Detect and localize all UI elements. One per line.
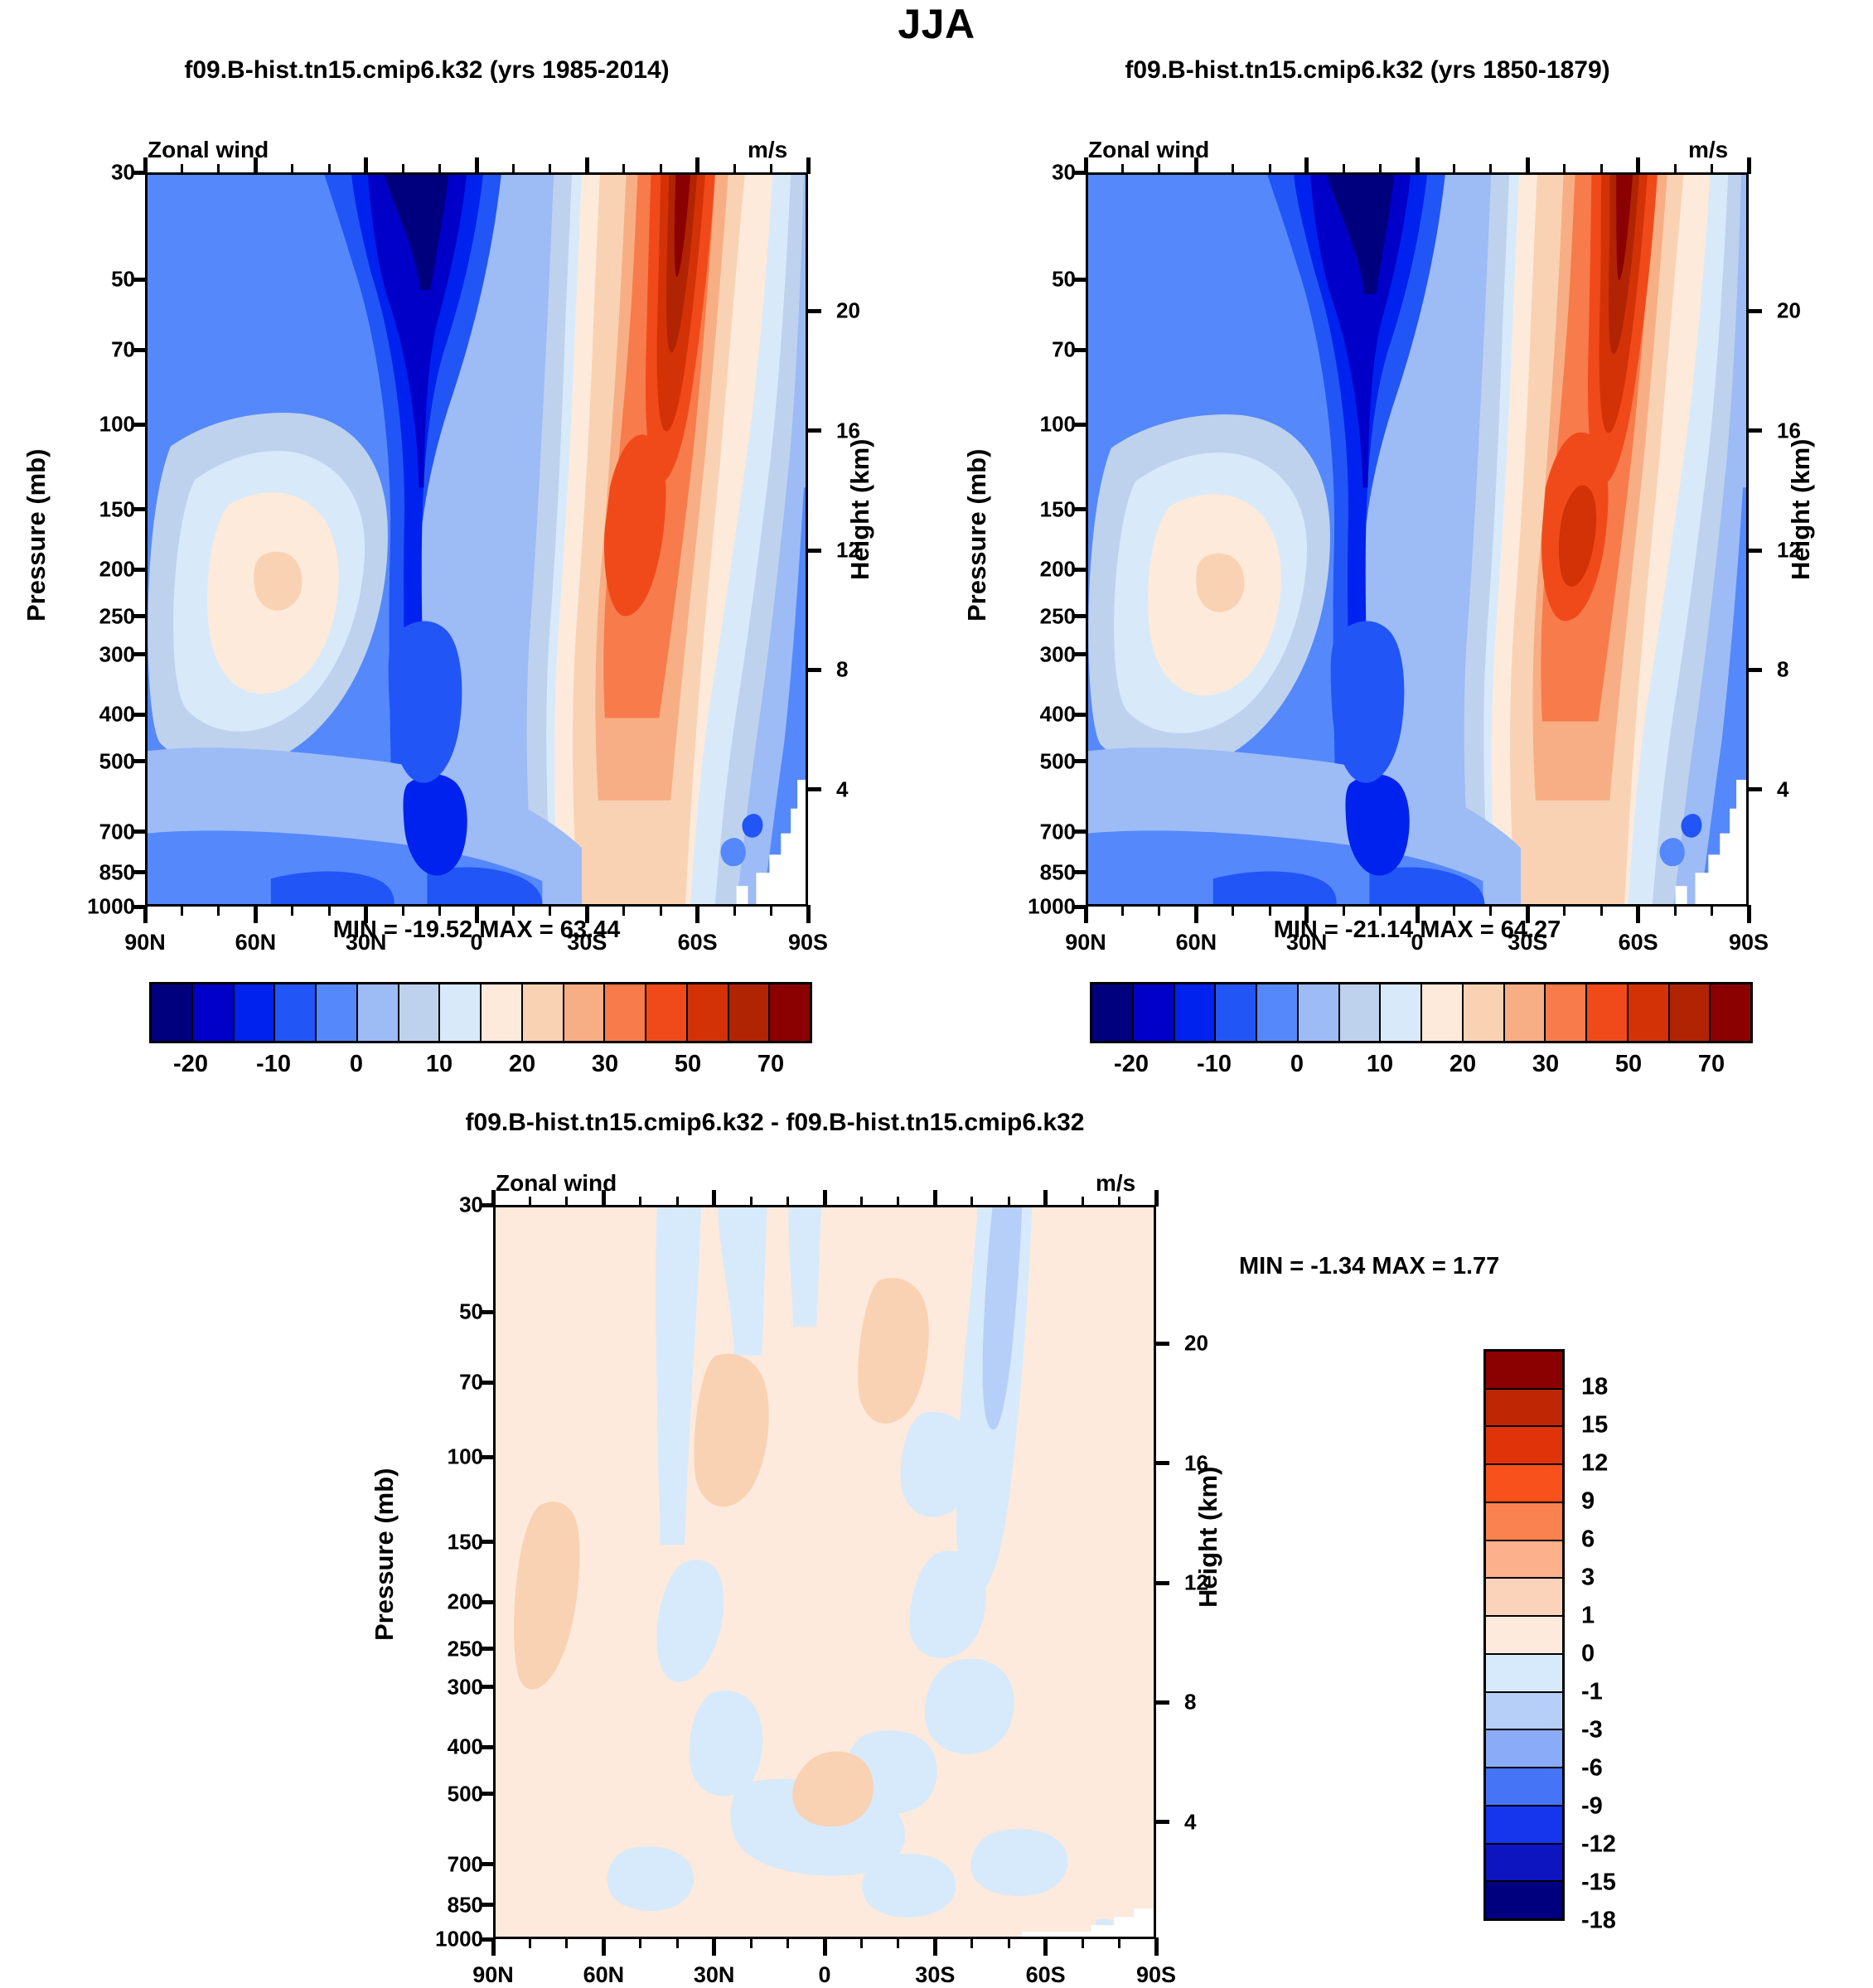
latitude-major-tick-top bbox=[1154, 1190, 1159, 1207]
pressure-tick-mark bbox=[1074, 423, 1087, 427]
latitude-minor-tick-top bbox=[565, 1197, 568, 1207]
colorbar-swatch bbox=[358, 984, 399, 1041]
latitude-tick-label: 60N bbox=[1176, 930, 1217, 955]
latitude-minor-tick bbox=[1118, 1938, 1120, 1948]
contour-field-top-left bbox=[148, 175, 806, 904]
colorbar-tick-label: 0 bbox=[350, 1051, 363, 1078]
colorbar-swatch bbox=[1464, 984, 1505, 1041]
latitude-major-tick-top bbox=[364, 157, 368, 174]
latitude-major-tick bbox=[1304, 905, 1309, 923]
latitude-major-tick bbox=[823, 1937, 827, 1956]
latitude-minor-tick bbox=[1269, 906, 1271, 916]
pressure-tick-mark bbox=[133, 759, 147, 763]
height-tick-mark bbox=[1154, 1581, 1169, 1585]
colorbar-swatch bbox=[1486, 1579, 1562, 1617]
pressure-tick-mark bbox=[482, 1862, 495, 1866]
latitude-major-tick-top bbox=[1194, 157, 1198, 174]
pressure-tick-label: 400 bbox=[56, 702, 135, 728]
latitude-minor-tick-top bbox=[897, 1197, 899, 1207]
latitude-major-tick bbox=[1747, 905, 1751, 923]
latitude-minor-tick-top bbox=[1343, 164, 1345, 174]
panel-bottom-diff-plot-area bbox=[493, 1205, 1156, 1939]
latitude-major-tick bbox=[585, 905, 589, 923]
height-tick-label: 16 bbox=[1184, 1450, 1208, 1476]
latitude-minor-tick-top bbox=[1379, 164, 1382, 174]
pressure-tick-mark bbox=[1074, 870, 1087, 874]
latitude-tick-label: 60S bbox=[1026, 1962, 1066, 1988]
latitude-major-tick-top bbox=[602, 1190, 606, 1207]
colorbar-tick-label: -9 bbox=[1581, 1793, 1603, 1821]
latitude-minor-tick bbox=[660, 906, 662, 916]
latitude-minor-tick-top bbox=[402, 164, 404, 174]
colorbar-tick-label: 0 bbox=[1290, 1051, 1304, 1078]
pressure-tick-label: 50 bbox=[996, 267, 1076, 293]
colorbar-tick-label: 20 bbox=[509, 1051, 535, 1078]
pressure-tick-mark bbox=[1074, 713, 1087, 717]
colorbar-swatch bbox=[1216, 984, 1257, 1041]
colorbar-tick-label: -15 bbox=[1581, 1869, 1616, 1897]
panel-top-right: f09.B-hist.tn15.cmip6.k32 (yrs 1850-1879… bbox=[941, 50, 1794, 953]
latitude-minor-tick-top bbox=[733, 164, 736, 174]
colorbar-tick-label: -10 bbox=[1197, 1051, 1232, 1078]
pressure-tick-mark bbox=[482, 1647, 495, 1651]
height-tick-mark bbox=[1154, 1820, 1169, 1824]
figure-super-title: JJA bbox=[0, 0, 1873, 48]
latitude-major-tick bbox=[695, 905, 699, 923]
panel-top-right-title: f09.B-hist.tn15.cmip6.k32 (yrs 1850-1879… bbox=[941, 56, 1794, 85]
pressure-tick-label: 50 bbox=[56, 267, 135, 293]
latitude-major-tick bbox=[1636, 905, 1640, 923]
pressure-tick-label: 700 bbox=[404, 1851, 483, 1877]
latitude-minor-tick bbox=[1158, 906, 1160, 916]
colorbar-swatch bbox=[1486, 1730, 1562, 1768]
latitude-major-tick bbox=[475, 905, 479, 923]
latitude-minor-tick bbox=[639, 1938, 641, 1948]
latitude-minor-tick-top bbox=[1118, 1197, 1120, 1207]
latitude-tick-label: 0 bbox=[470, 930, 482, 955]
colorbar-swatch bbox=[1486, 1845, 1562, 1883]
pressure-tick-mark bbox=[482, 1903, 495, 1907]
colorbar-tick-label: 50 bbox=[675, 1051, 701, 1078]
colorbar-tick-label: -20 bbox=[173, 1051, 208, 1078]
colorbar-swatch bbox=[1340, 984, 1382, 1041]
latitude-minor-tick-top bbox=[770, 164, 772, 174]
colorbar-top-right-labels: -20-1001020305070 bbox=[1090, 1051, 1753, 1084]
latitude-tick-label: 60N bbox=[583, 1962, 625, 1988]
pressure-tick-label: 500 bbox=[404, 1781, 483, 1807]
colorbar-tick-label: 10 bbox=[1367, 1051, 1393, 1078]
latitude-major-tick-top bbox=[933, 1190, 937, 1207]
latitude-minor-tick bbox=[750, 1938, 753, 1948]
pressure-tick-label: 70 bbox=[404, 1370, 483, 1395]
colorbar-tick-label: 15 bbox=[1581, 1412, 1608, 1439]
latitude-minor-tick-top bbox=[1489, 164, 1492, 174]
colorbar-swatch bbox=[605, 984, 646, 1041]
panel-bottom-diff-header-variable: Zonal wind bbox=[496, 1170, 617, 1197]
pressure-tick-label: 300 bbox=[996, 641, 1076, 667]
pressure-tick-label: 250 bbox=[404, 1636, 483, 1662]
latitude-tick-label: 60S bbox=[678, 930, 718, 955]
pressure-tick-mark bbox=[482, 1792, 495, 1796]
latitude-major-tick-top bbox=[254, 157, 258, 174]
pressure-tick-label: 1000 bbox=[404, 1927, 483, 1952]
pressure-tick-mark bbox=[133, 713, 147, 717]
height-tick-mark bbox=[1747, 309, 1762, 313]
pressure-tick-mark bbox=[482, 1600, 495, 1604]
colorbar-tick-label: 10 bbox=[426, 1051, 453, 1078]
latitude-minor-tick-top bbox=[1269, 164, 1271, 174]
latitude-major-tick-top bbox=[695, 157, 699, 174]
pressure-tick-mark bbox=[133, 568, 147, 572]
colorbar-swatch bbox=[688, 984, 729, 1041]
pressure-tick-label: 70 bbox=[56, 337, 135, 363]
colorbar-swatch bbox=[235, 984, 276, 1041]
panel-bottom-diff-header-units: m/s bbox=[1096, 1170, 1135, 1197]
height-tick-label: 4 bbox=[1184, 1809, 1196, 1835]
latitude-tick-label: 0 bbox=[818, 1962, 830, 1988]
colorbar-tick-label: -18 bbox=[1581, 1908, 1616, 1935]
pressure-tick-label: 150 bbox=[56, 496, 135, 522]
colorbar-tick-label: -3 bbox=[1581, 1717, 1603, 1744]
height-tick-label: 12 bbox=[1777, 538, 1801, 564]
panel-top-left-header-variable: Zonal wind bbox=[148, 137, 269, 163]
latitude-minor-tick bbox=[217, 906, 220, 916]
latitude-minor-tick-top bbox=[181, 164, 183, 174]
pressure-tick-mark bbox=[1074, 830, 1087, 834]
latitude-major-tick-top bbox=[823, 1190, 827, 1207]
pressure-tick-label: 850 bbox=[404, 1892, 483, 1918]
colorbar-tick-label: 18 bbox=[1581, 1374, 1608, 1401]
latitude-minor-tick-top bbox=[676, 1197, 679, 1207]
latitude-major-tick bbox=[1084, 905, 1088, 923]
pressure-tick-label: 400 bbox=[996, 702, 1076, 728]
colorbar-swatch bbox=[1299, 984, 1340, 1041]
colorbar-top-left[interactable] bbox=[149, 982, 812, 1043]
colorbar-diff[interactable] bbox=[1483, 1349, 1565, 1921]
latitude-minor-tick bbox=[1711, 906, 1713, 916]
latitude-minor-tick-top bbox=[1232, 164, 1234, 174]
latitude-minor-tick bbox=[1379, 906, 1382, 916]
pressure-tick-mark bbox=[133, 348, 147, 352]
latitude-minor-tick-top bbox=[1674, 164, 1677, 174]
panel-top-left-plot-area bbox=[145, 172, 808, 907]
colorbar-swatch bbox=[482, 984, 523, 1041]
colorbar-tick-label: -12 bbox=[1581, 1831, 1616, 1859]
contour-field-top-right bbox=[1088, 175, 1746, 904]
latitude-minor-tick bbox=[1232, 906, 1234, 916]
colorbar-swatch bbox=[1486, 1541, 1562, 1579]
pressure-tick-label: 30 bbox=[404, 1192, 483, 1218]
latitude-tick-label: 60S bbox=[1619, 930, 1658, 955]
latitude-minor-tick bbox=[786, 1938, 789, 1948]
colorbar-swatch bbox=[440, 984, 482, 1041]
height-tick-mark bbox=[1747, 668, 1762, 672]
colorbar-swatch bbox=[399, 984, 441, 1041]
latitude-major-tick-top bbox=[1747, 157, 1751, 174]
latitude-major-tick bbox=[1416, 905, 1420, 923]
latitude-minor-tick-top bbox=[970, 1197, 973, 1207]
colorbar-swatch bbox=[275, 984, 317, 1041]
latitude-minor-tick bbox=[1600, 906, 1603, 916]
contour-field-bottom-diff bbox=[496, 1207, 1154, 1937]
latitude-tick-label: 90S bbox=[1729, 930, 1769, 955]
pressure-tick-mark bbox=[1074, 568, 1087, 572]
panel-top-right-ylabel: Pressure (mb) bbox=[962, 449, 992, 622]
colorbar-tick-label: 0 bbox=[1581, 1641, 1595, 1668]
pressure-tick-mark bbox=[1074, 507, 1087, 511]
latitude-tick-label: 0 bbox=[1411, 930, 1423, 955]
latitude-major-tick bbox=[1526, 905, 1530, 923]
height-tick-mark bbox=[1154, 1461, 1169, 1465]
pressure-tick-label: 1000 bbox=[56, 894, 135, 920]
panel-top-left-header-units: m/s bbox=[748, 137, 787, 163]
colorbar-tick-label: 70 bbox=[1698, 1051, 1725, 1078]
height-tick-label: 12 bbox=[1184, 1570, 1208, 1596]
latitude-tick-label: 30N bbox=[694, 1962, 735, 1988]
latitude-minor-tick bbox=[622, 906, 625, 916]
height-tick-label: 4 bbox=[1777, 776, 1788, 802]
latitude-minor-tick-top bbox=[512, 164, 515, 174]
pressure-tick-label: 700 bbox=[56, 819, 135, 844]
latitude-major-tick bbox=[1043, 1937, 1048, 1956]
panel-top-left-title: f09.B-hist.tn15.cmip6.k32 (yrs 1985-2014… bbox=[0, 56, 854, 85]
latitude-minor-tick bbox=[1082, 1938, 1084, 1948]
latitude-minor-tick-top bbox=[1082, 1197, 1084, 1207]
latitude-major-tick bbox=[712, 1937, 716, 1956]
pressure-tick-label: 1000 bbox=[996, 894, 1076, 920]
latitude-minor-tick bbox=[970, 1938, 973, 1948]
colorbar-tick-label: 1 bbox=[1581, 1603, 1595, 1630]
height-tick-label: 20 bbox=[1777, 298, 1801, 324]
colorbar-tick-label: 6 bbox=[1581, 1526, 1595, 1554]
colorbar-swatch bbox=[1546, 984, 1587, 1041]
height-tick-label: 16 bbox=[836, 418, 860, 443]
colorbar-tick-label: 70 bbox=[757, 1051, 784, 1078]
pressure-tick-mark bbox=[482, 1540, 495, 1544]
latitude-major-tick bbox=[143, 905, 148, 923]
panel-bottom-diff-ylabel: Pressure (mb) bbox=[370, 1468, 399, 1641]
latitude-minor-tick-top bbox=[1121, 164, 1124, 174]
latitude-major-tick-top bbox=[1043, 1190, 1048, 1207]
colorbar-top-left-labels: -20-1001020305070 bbox=[149, 1051, 812, 1084]
latitude-minor-tick bbox=[1453, 906, 1455, 916]
latitude-minor-tick-top bbox=[1158, 164, 1160, 174]
colorbar-swatch bbox=[1486, 1807, 1562, 1845]
height-tick-mark bbox=[806, 787, 821, 791]
pressure-tick-mark bbox=[482, 1381, 495, 1385]
latitude-minor-tick-top bbox=[1600, 164, 1603, 174]
height-tick-label: 8 bbox=[1184, 1690, 1196, 1715]
colorbar-swatch bbox=[1486, 1465, 1562, 1503]
height-tick-label: 20 bbox=[1184, 1331, 1208, 1357]
colorbar-swatch bbox=[523, 984, 564, 1041]
pressure-tick-label: 150 bbox=[996, 496, 1076, 522]
pressure-tick-mark bbox=[482, 1310, 495, 1314]
colorbar-swatch bbox=[1486, 1768, 1562, 1807]
latitude-tick-label: 30S bbox=[915, 1962, 955, 1988]
colorbar-swatch bbox=[1711, 984, 1750, 1041]
colorbar-swatch bbox=[1134, 984, 1175, 1041]
colorbar-swatch bbox=[1381, 984, 1422, 1041]
pressure-tick-label: 30 bbox=[56, 160, 135, 186]
height-tick-label: 8 bbox=[836, 657, 848, 683]
pressure-tick-label: 70 bbox=[996, 337, 1076, 363]
panel-top-right-header-units: m/s bbox=[1688, 137, 1728, 163]
latitude-minor-tick-top bbox=[1453, 164, 1455, 174]
latitude-tick-label: 30N bbox=[1286, 930, 1328, 955]
panel-bottom-diff-title: f09.B-hist.tn15.cmip6.k32 - f09.B-hist.t… bbox=[348, 1109, 1202, 1137]
latitude-minor-tick bbox=[860, 1938, 863, 1948]
pressure-tick-mark bbox=[1074, 759, 1087, 763]
latitude-minor-tick bbox=[565, 1938, 568, 1948]
latitude-major-tick-top bbox=[1526, 157, 1530, 174]
colorbar-tick-label: 3 bbox=[1581, 1565, 1595, 1592]
colorbar-tick-label: -6 bbox=[1581, 1755, 1603, 1782]
colorbar-tick-label: 30 bbox=[1532, 1051, 1559, 1078]
colorbar-swatch bbox=[770, 984, 810, 1041]
pressure-tick-mark bbox=[1074, 348, 1087, 352]
pressure-tick-mark bbox=[133, 507, 147, 511]
colorbar-tick-label: -1 bbox=[1581, 1679, 1603, 1706]
colorbar-swatch bbox=[1505, 984, 1546, 1041]
latitude-minor-tick bbox=[549, 906, 551, 916]
latitude-tick-label: 90N bbox=[472, 1962, 514, 1988]
latitude-minor-tick bbox=[1121, 906, 1124, 916]
colorbar-swatch bbox=[646, 984, 688, 1041]
latitude-minor-tick-top bbox=[750, 1197, 753, 1207]
latitude-tick-label: 90S bbox=[788, 930, 828, 955]
colorbar-swatch bbox=[152, 984, 193, 1041]
latitude-major-tick-top bbox=[491, 1190, 496, 1207]
panel-top-right-header-variable: Zonal wind bbox=[1088, 137, 1209, 163]
colorbar-swatch bbox=[1629, 984, 1670, 1041]
panel-top-left-ylabel: Pressure (mb) bbox=[22, 449, 51, 622]
latitude-minor-tick-top bbox=[328, 164, 331, 174]
pressure-tick-label: 200 bbox=[996, 557, 1076, 583]
pressure-tick-label: 300 bbox=[404, 1674, 483, 1700]
height-tick-label: 16 bbox=[1777, 418, 1801, 443]
colorbar-swatch bbox=[1486, 1503, 1562, 1541]
height-tick-label: 4 bbox=[836, 776, 848, 802]
latitude-minor-tick bbox=[529, 1938, 531, 1948]
latitude-minor-tick bbox=[733, 906, 736, 916]
pressure-tick-mark bbox=[482, 1685, 495, 1689]
latitude-major-tick bbox=[491, 1937, 496, 1956]
latitude-major-tick-top bbox=[1416, 157, 1420, 174]
height-tick-mark bbox=[806, 428, 821, 433]
colorbar-tick-label: 12 bbox=[1581, 1450, 1608, 1478]
latitude-minor-tick-top bbox=[786, 1197, 789, 1207]
latitude-major-tick bbox=[364, 905, 368, 923]
height-tick-mark bbox=[1747, 549, 1762, 553]
latitude-minor-tick bbox=[1563, 906, 1566, 916]
height-tick-mark bbox=[1154, 1342, 1169, 1346]
panel-bottom-diff: f09.B-hist.tn15.cmip6.k32 - f09.B-hist.t… bbox=[348, 1102, 1202, 1947]
colorbar-swatch bbox=[1486, 1655, 1562, 1693]
latitude-major-tick bbox=[933, 1937, 937, 1956]
latitude-major-tick bbox=[602, 1937, 606, 1956]
pressure-tick-label: 100 bbox=[404, 1444, 483, 1470]
latitude-major-tick bbox=[1194, 905, 1198, 923]
latitude-tick-label: 30S bbox=[567, 930, 607, 955]
colorbar-tick-label: -10 bbox=[256, 1051, 291, 1078]
pressure-tick-mark bbox=[482, 1455, 495, 1459]
height-tick-label: 20 bbox=[836, 298, 860, 324]
pressure-tick-label: 400 bbox=[404, 1734, 483, 1760]
pressure-tick-mark bbox=[1074, 614, 1087, 618]
latitude-tick-label: 90S bbox=[1136, 1962, 1176, 1988]
latitude-major-tick-top bbox=[1304, 157, 1309, 174]
latitude-minor-tick-top bbox=[529, 1197, 531, 1207]
latitude-major-tick bbox=[254, 905, 258, 923]
latitude-minor-tick bbox=[438, 906, 441, 916]
colorbar-tick-label: 9 bbox=[1581, 1488, 1595, 1516]
pressure-tick-mark bbox=[1074, 278, 1087, 282]
pressure-tick-mark bbox=[133, 830, 147, 834]
latitude-minor-tick-top bbox=[291, 164, 293, 174]
latitude-minor-tick bbox=[291, 906, 293, 916]
colorbar-swatch bbox=[1486, 1427, 1562, 1465]
colorbar-swatch bbox=[729, 984, 771, 1041]
colorbar-tick-label: 50 bbox=[1615, 1051, 1642, 1078]
latitude-major-tick bbox=[806, 905, 811, 923]
height-tick-label: 12 bbox=[836, 538, 860, 564]
colorbar-swatch bbox=[1257, 984, 1299, 1041]
latitude-major-tick-top bbox=[475, 157, 479, 174]
height-tick-mark bbox=[1747, 787, 1762, 791]
latitude-minor-tick bbox=[512, 906, 515, 916]
colorbar-swatch bbox=[1486, 1693, 1562, 1731]
pressure-tick-label: 300 bbox=[56, 641, 135, 667]
colorbar-tick-label: -20 bbox=[1114, 1051, 1149, 1078]
pressure-tick-label: 150 bbox=[404, 1529, 483, 1555]
latitude-minor-tick-top bbox=[1008, 1197, 1010, 1207]
colorbar-swatch bbox=[317, 984, 358, 1041]
latitude-minor-tick-top bbox=[860, 1197, 863, 1207]
latitude-tick-label: 60N bbox=[235, 930, 277, 955]
colorbar-swatch bbox=[193, 984, 235, 1041]
height-tick-mark bbox=[1154, 1700, 1169, 1705]
latitude-minor-tick bbox=[1674, 906, 1677, 916]
colorbar-swatch bbox=[1486, 1882, 1562, 1918]
colorbar-swatch bbox=[1422, 984, 1464, 1041]
height-tick-mark bbox=[806, 309, 821, 313]
latitude-minor-tick-top bbox=[549, 164, 551, 174]
pressure-tick-label: 50 bbox=[404, 1299, 483, 1325]
latitude-major-tick-top bbox=[712, 1190, 716, 1207]
latitude-major-tick-top bbox=[585, 157, 589, 174]
latitude-minor-tick bbox=[770, 906, 772, 916]
colorbar-swatch bbox=[1670, 984, 1711, 1041]
pressure-tick-label: 200 bbox=[404, 1589, 483, 1615]
colorbar-top-right[interactable] bbox=[1090, 982, 1753, 1043]
pressure-tick-label: 700 bbox=[996, 819, 1076, 844]
latitude-minor-tick-top bbox=[1563, 164, 1566, 174]
height-tick-mark bbox=[1747, 428, 1762, 433]
latitude-major-tick-top bbox=[143, 157, 148, 174]
pressure-tick-mark bbox=[133, 870, 147, 874]
height-tick-label: 8 bbox=[1777, 657, 1788, 683]
pressure-tick-label: 200 bbox=[56, 557, 135, 583]
pressure-tick-mark bbox=[133, 423, 147, 427]
height-tick-mark bbox=[806, 549, 821, 553]
pressure-tick-label: 500 bbox=[996, 748, 1076, 774]
pressure-tick-mark bbox=[133, 278, 147, 282]
pressure-tick-label: 30 bbox=[996, 160, 1076, 186]
colorbar-tick-label: 30 bbox=[592, 1051, 618, 1078]
latitude-minor-tick bbox=[181, 906, 183, 916]
latitude-major-tick-top bbox=[1084, 157, 1088, 174]
